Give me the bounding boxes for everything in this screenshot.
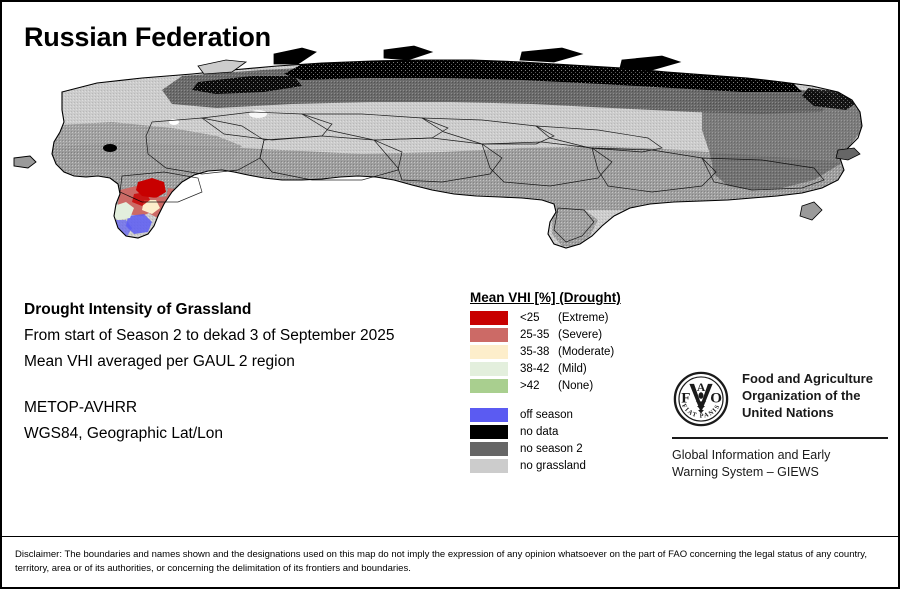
legend-item-none[interactable]: >42 (None) xyxy=(470,377,670,394)
map-poster: Russian Federation xyxy=(0,0,900,589)
legend-item-mild[interactable]: 38-42 (Mild) xyxy=(470,360,670,377)
legend-label-extreme: <25 (Extreme) xyxy=(520,312,608,324)
russia-choropleth-map xyxy=(2,30,898,275)
map-legend: Mean VHI [%] (Drought) <25 (Extreme) 25-… xyxy=(470,290,670,474)
disclaimer-divider xyxy=(2,536,898,537)
info-heading: Drought Intensity of Grassland xyxy=(24,297,464,323)
legend-label-no-data: no data xyxy=(520,426,558,438)
legend-range-extreme: <25 xyxy=(520,312,558,324)
legend-swatch-no-grassland xyxy=(470,459,508,473)
svg-text:A: A xyxy=(697,381,706,394)
fao-name-line-1: Food and Agriculture xyxy=(742,370,873,387)
legend-item-extreme[interactable]: <25 (Extreme) xyxy=(470,309,670,326)
legend-item-no-data[interactable]: no data xyxy=(470,423,670,440)
legend-range-mild: 38-42 xyxy=(520,363,558,375)
giews-name: Global Information and Early Warning Sys… xyxy=(672,447,888,481)
legend-qualifier-extreme: (Extreme) xyxy=(558,312,608,324)
giews-line-1: Global Information and Early xyxy=(672,447,888,464)
legend-swatch-none xyxy=(470,379,508,393)
info-projection: WGS84, Geographic Lat/Lon xyxy=(24,421,464,447)
legend-label-severe: 25-35 (Severe) xyxy=(520,329,602,341)
info-spacer xyxy=(24,375,464,395)
legend-qualifier-moderate: (Moderate) xyxy=(558,346,614,358)
legend-swatch-no-data xyxy=(470,425,508,439)
info-block: Drought Intensity of Grassland From star… xyxy=(24,297,464,447)
legend-label-no-season-2: no season 2 xyxy=(520,443,583,455)
giews-line-2: Warning System – GIEWS xyxy=(672,464,888,481)
legend-qualifier-mild: (Mild) xyxy=(558,363,587,375)
fao-name-line-2: Organization of the xyxy=(742,387,873,404)
legend-qualifier-severe: (Severe) xyxy=(558,329,602,341)
legend-swatch-off-season xyxy=(470,408,508,422)
legend-label-none: >42 (None) xyxy=(520,380,593,392)
info-aggregation: Mean VHI averaged per GAUL 2 region xyxy=(24,349,464,375)
fao-logo-icon: F A O FIAT PANIS xyxy=(672,370,730,428)
fao-divider xyxy=(672,437,888,439)
info-period: From start of Season 2 to dekad 3 of Sep… xyxy=(24,323,464,349)
disclaimer-text: Disclaimer: The boundaries and names sho… xyxy=(15,548,875,576)
legend-item-severe[interactable]: 25-35 (Severe) xyxy=(470,326,670,343)
map-canvas[interactable] xyxy=(2,30,898,275)
legend-title: Mean VHI [%] (Drought) xyxy=(470,290,670,305)
legend-item-off-season[interactable]: off season xyxy=(470,406,670,423)
legend-swatch-moderate xyxy=(470,345,508,359)
legend-qualifier-none: (None) xyxy=(558,380,593,392)
legend-label-mild: 38-42 (Mild) xyxy=(520,363,587,375)
legend-swatch-extreme xyxy=(470,311,508,325)
info-sensor: METOP-AVHRR xyxy=(24,395,464,421)
legend-label-moderate: 35-38 (Moderate) xyxy=(520,346,614,358)
legend-range-severe: 25-35 xyxy=(520,329,558,341)
fao-header: F A O FIAT PANIS Food and Agriculture Or… xyxy=(672,370,888,428)
legend-label-off-season: off season xyxy=(520,409,573,421)
legend-item-no-grassland[interactable]: no grassland xyxy=(470,457,670,474)
legend-label-no-grassland: no grassland xyxy=(520,460,586,472)
legend-range-moderate: 35-38 xyxy=(520,346,558,358)
legend-swatch-mild xyxy=(470,362,508,376)
legend-spacer xyxy=(470,394,670,406)
fao-name-line-3: United Nations xyxy=(742,404,873,421)
legend-range-none: >42 xyxy=(520,380,558,392)
legend-item-moderate[interactable]: 35-38 (Moderate) xyxy=(470,343,670,360)
fao-branding: F A O FIAT PANIS Food and Agriculture Or… xyxy=(672,370,888,481)
legend-item-no-season-2[interactable]: no season 2 xyxy=(470,440,670,457)
legend-swatch-severe xyxy=(470,328,508,342)
legend-swatch-no-season-2 xyxy=(470,442,508,456)
page-title: Russian Federation xyxy=(24,22,271,53)
fao-organization-name: Food and Agriculture Organization of the… xyxy=(742,370,873,421)
